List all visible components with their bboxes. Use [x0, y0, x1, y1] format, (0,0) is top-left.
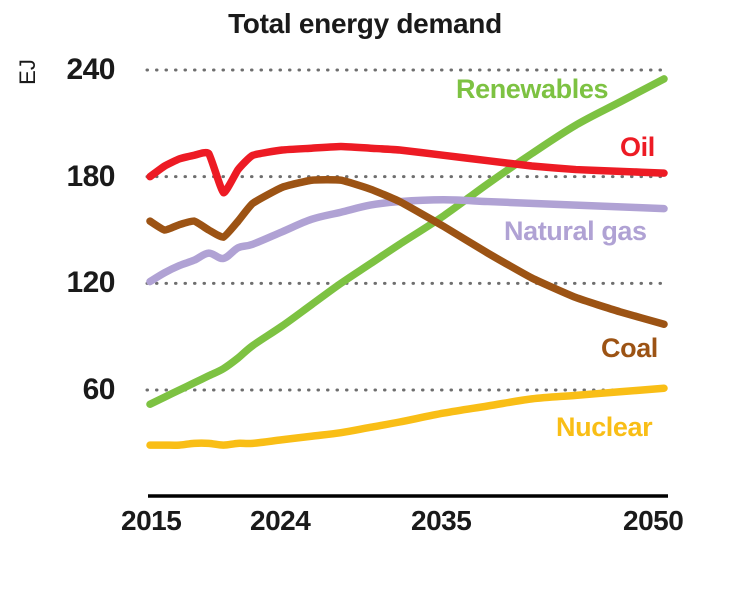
series-label-renewables: Renewables: [456, 74, 608, 105]
series-label-coal: Coal: [601, 333, 658, 364]
series-label-nuclear: Nuclear: [556, 412, 652, 443]
series-line-oil: [150, 146, 664, 192]
plot-area: [0, 0, 730, 590]
series-label-oil: Oil: [620, 132, 655, 163]
chart-container: Total energy demand EJ 240 180 120 60 20…: [0, 0, 730, 590]
series-lines: [150, 79, 664, 445]
series-label-natural-gas: Natural gas: [504, 216, 647, 247]
